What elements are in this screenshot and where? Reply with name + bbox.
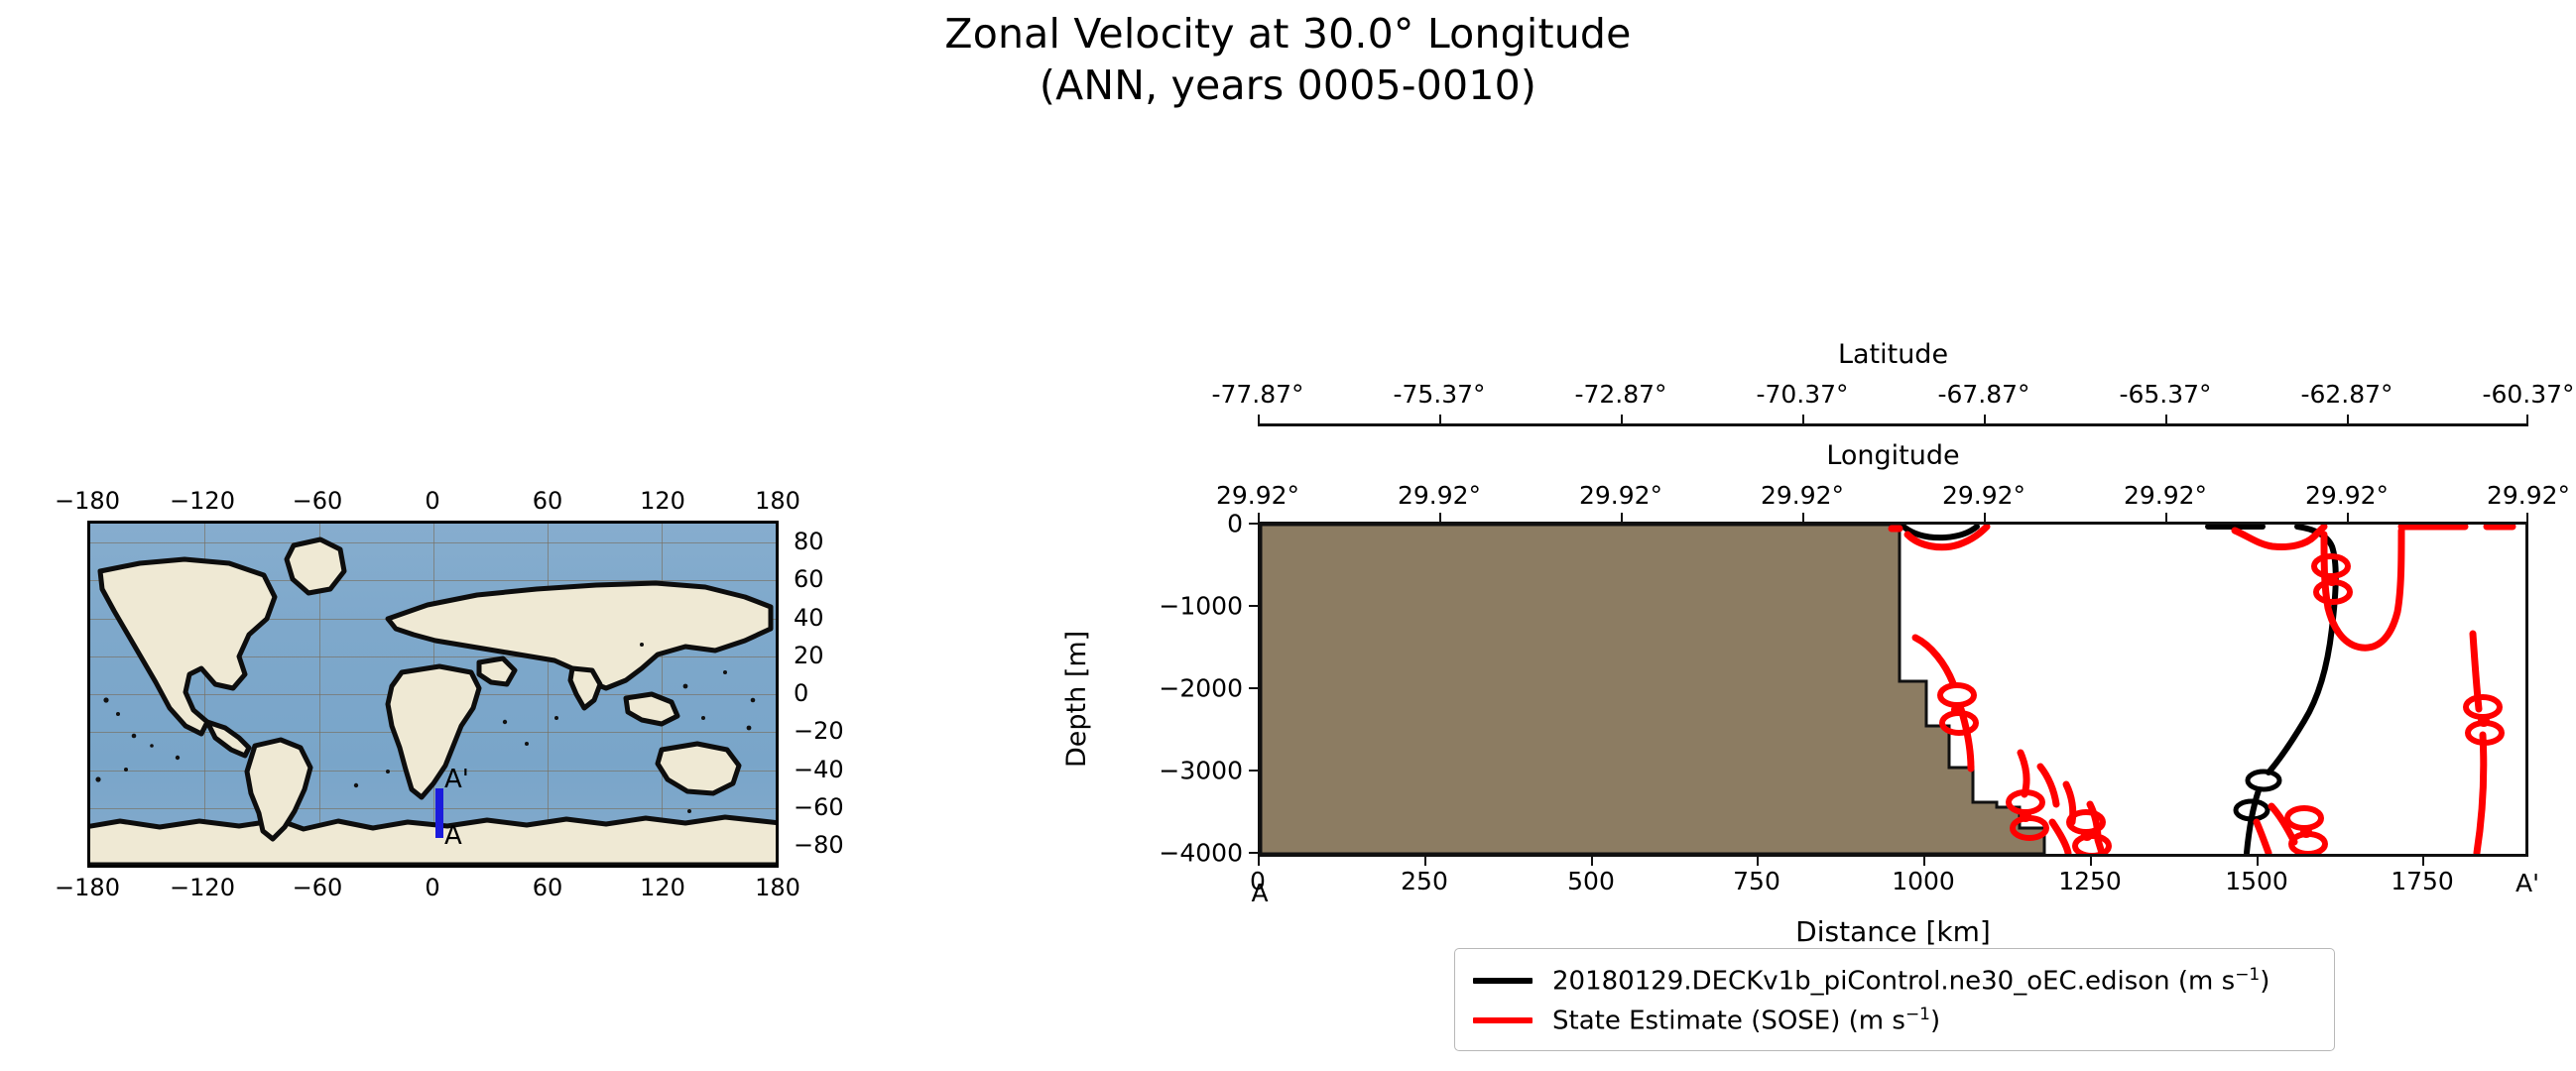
- map-xtick-label-bottom: −180: [55, 876, 120, 899]
- map-xtick-label-bottom: −60: [293, 876, 343, 899]
- longitude-axis-title: Longitude: [1258, 442, 2528, 469]
- longitude-tick-label: 29.92°: [2305, 483, 2389, 508]
- map-ytick-label-right: 40: [794, 606, 824, 630]
- map-xtick-label-top: 120: [640, 489, 685, 513]
- map-xtick-label-bottom: −120: [170, 876, 235, 899]
- latitude-tick-label: -70.37°: [1756, 382, 1848, 407]
- distance-tick-label: 250: [1401, 869, 1448, 893]
- plot-legend[interactable]: 20180129.DECKv1b_piControl.ne30_oEC.edis…: [1454, 948, 2335, 1051]
- depth-tick-label: −3000: [1114, 759, 1243, 783]
- latitude-tick-label: -72.87°: [1574, 382, 1666, 407]
- depth-axis-title: Depth [m]: [1063, 631, 1090, 768]
- distance-tick-label: 750: [1733, 869, 1780, 893]
- distance-axis-title: Distance [km]: [1258, 918, 2528, 946]
- world-locator-map[interactable]: A' A 80 60 40 20 0 −20 −40 −60 −80 80 60…: [87, 521, 779, 868]
- latitude-tick-label: -77.87°: [1211, 382, 1303, 407]
- map-xtick-label-bottom: 60: [533, 876, 563, 899]
- latitude-axis-title: Latitude: [1258, 341, 2528, 368]
- longitude-tick-label: 29.92°: [1942, 483, 2025, 508]
- map-xtick-label-top: −180: [55, 489, 120, 513]
- map-xtick-label-top: 0: [425, 489, 439, 513]
- map-ytick-label-right: 80: [794, 530, 824, 553]
- sose-contour-label-0: [1940, 556, 2502, 854]
- longitude-tick-label: 29.92°: [2124, 483, 2207, 508]
- map-ytick-label-right: −80: [794, 833, 844, 857]
- title-line-1: Zonal Velocity at 30.0° Longitude: [0, 8, 2576, 59]
- map-frame: [87, 521, 779, 868]
- figure-canvas: Zonal Velocity at 30.0° Longitude (ANN, …: [0, 0, 2576, 1071]
- transect-end-marker: A': [2515, 871, 2539, 895]
- map-transect-end-label: A': [444, 767, 469, 792]
- legend-swatch-model: [1473, 978, 1533, 984]
- map-ytick-label-right: 60: [794, 567, 824, 591]
- legend-swatch-sose: [1473, 1017, 1533, 1023]
- depth-tick-label: −2000: [1114, 676, 1243, 701]
- depth-tick-label: −4000: [1114, 841, 1243, 866]
- distance-tick-label: 1750: [2391, 869, 2454, 893]
- distance-tick-label: 1500: [2225, 869, 2288, 893]
- map-ytick-label-right: −40: [794, 758, 844, 781]
- longitude-tick-label: 29.92°: [1579, 483, 1662, 508]
- map-ytick-label-right: 20: [794, 644, 824, 667]
- longitude-tick-label: 29.92°: [1761, 483, 1844, 508]
- transect-start-marker: A: [1251, 881, 1268, 905]
- map-xtick-label-top: 60: [533, 489, 563, 513]
- cross-section-plot[interactable]: 0 250 500 750 1000 1250 1500 1750 A A' 0…: [1258, 522, 2528, 857]
- map-xtick-label-top: −60: [293, 489, 343, 513]
- map-xtick-label-bottom: 180: [755, 876, 800, 899]
- latitude-tick-label: -65.37°: [2119, 382, 2211, 407]
- depth-tick-label: 0: [1114, 512, 1243, 536]
- latitude-tick-label: -67.87°: [1937, 382, 2029, 407]
- distance-tick-label: 1250: [2058, 869, 2122, 893]
- latitude-tick-label: -62.87°: [2300, 382, 2392, 407]
- map-xtick-label-top: −120: [170, 489, 235, 513]
- distance-tick-label: 500: [1567, 869, 1615, 893]
- figure-title: Zonal Velocity at 30.0° Longitude (ANN, …: [0, 8, 2576, 112]
- title-line-2: (ANN, years 0005-0010): [0, 59, 2576, 111]
- depth-tick-label: −1000: [1114, 594, 1243, 619]
- transect-line-overlay: [435, 788, 443, 838]
- cross-section-axes-frame: [1258, 522, 2528, 857]
- legend-label-model: 20180129.DECKv1b_piControl.ne30_oEC.edis…: [1552, 967, 2269, 995]
- longitude-tick-label: 29.92°: [1398, 483, 1481, 508]
- bathymetry-mask: [1261, 525, 2044, 854]
- map-ytick-label-right: −20: [794, 719, 844, 743]
- legend-entry-sose[interactable]: State Estimate (SOSE) (m s−1): [1473, 1001, 2316, 1040]
- map-xtick-label-bottom: 0: [425, 876, 439, 899]
- distance-tick-label: 1000: [1892, 869, 1955, 893]
- latitude-axis-line: [1258, 423, 2528, 426]
- legend-label-sose: State Estimate (SOSE) (m s−1): [1552, 1007, 1940, 1034]
- map-ytick-label-right: 0: [794, 681, 808, 705]
- coastlines: [90, 524, 776, 865]
- contour-canvas: [1261, 525, 2525, 854]
- longitude-tick-label: 29.92°: [1216, 483, 1299, 508]
- map-ytick-label-right: −60: [794, 795, 844, 819]
- longitude-tick-label: 29.92°: [2487, 483, 2570, 508]
- map-xtick-label-bottom: 120: [640, 876, 685, 899]
- map-xtick-label-top: 180: [755, 489, 800, 513]
- latitude-tick-label: -60.37°: [2482, 382, 2574, 407]
- legend-entry-model[interactable]: 20180129.DECKv1b_piControl.ne30_oEC.edis…: [1473, 961, 2316, 1001]
- latitude-tick-label: -75.37°: [1393, 382, 1485, 407]
- map-transect-start-label: A: [444, 823, 462, 849]
